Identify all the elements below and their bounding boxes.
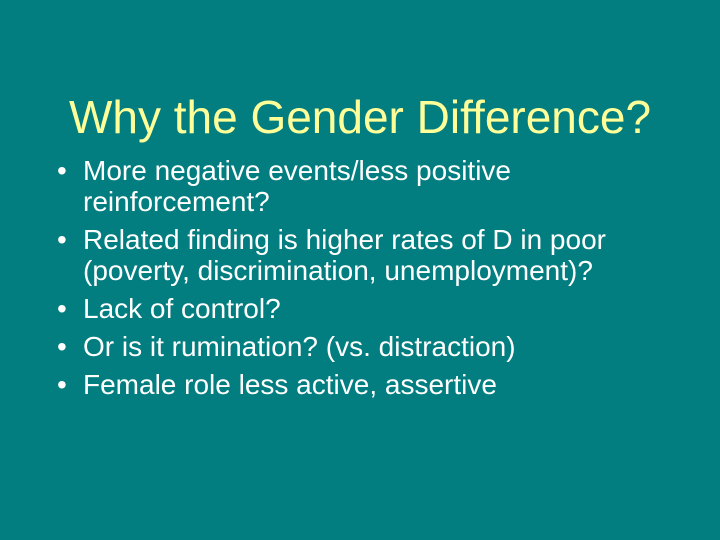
list-item-label: Lack of control? — [83, 293, 646, 324]
bullet-point-icon: • — [57, 331, 77, 362]
bullet-point-icon: • — [57, 224, 77, 255]
presentation-slide: Why the Gender Difference? • More negati… — [0, 0, 720, 540]
list-item-label: More negative events/less positive reinf… — [83, 155, 646, 217]
list-item-label: Female role less active, assertive — [83, 369, 646, 400]
list-item: • Or is it rumination? (vs. distraction) — [56, 331, 646, 362]
list-item: • More negative events/less positive rei… — [56, 155, 646, 217]
bullet-list: • More negative events/less positive rei… — [56, 155, 646, 400]
list-item: • Related finding is higher rates of D i… — [56, 224, 646, 286]
bullet-point-icon: • — [57, 155, 77, 186]
list-item: • Female role less active, assertive — [56, 369, 646, 400]
page-title: Why the Gender Difference? — [60, 93, 660, 141]
list-item-label: Related finding is higher rates of D in … — [83, 224, 646, 286]
bullet-point-icon: • — [57, 293, 77, 324]
list-item-label: Or is it rumination? (vs. distraction) — [83, 331, 646, 362]
bullet-point-icon: • — [57, 369, 77, 400]
list-item: • Lack of control? — [56, 293, 646, 324]
